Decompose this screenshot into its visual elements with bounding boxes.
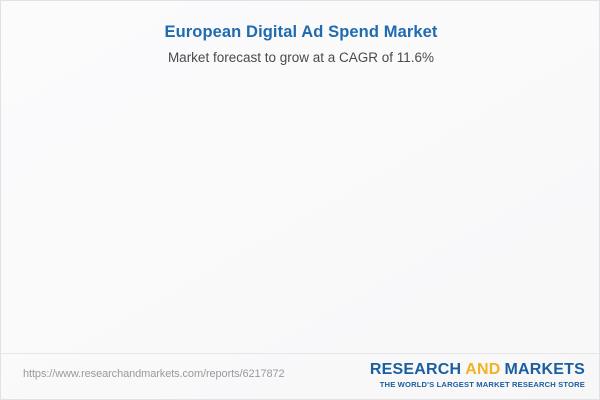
source-url-link[interactable]: https://www.researchandmarkets.com/repor… (23, 368, 285, 380)
chart-plot-area: USD 181.9 Billion 2026 USD 253.1 Billion (1, 1, 600, 353)
infographic-card: European Digital Ad Spend Market Market … (0, 0, 600, 400)
research-and-markets-logo[interactable]: RESEARCHANDMARKETS THE WORLD'S LARGEST M… (370, 360, 585, 389)
logo-word-markets: MARKETS (504, 361, 585, 378)
logo-tagline: THE WORLD'S LARGEST MARKET RESEARCH STOR… (370, 380, 585, 389)
logo-word-and: AND (465, 361, 500, 378)
logo-word-research: RESEARCH (370, 361, 461, 378)
footer: https://www.researchandmarkets.com/repor… (1, 354, 600, 400)
logo-wordmark: RESEARCHANDMARKETS (370, 360, 585, 379)
